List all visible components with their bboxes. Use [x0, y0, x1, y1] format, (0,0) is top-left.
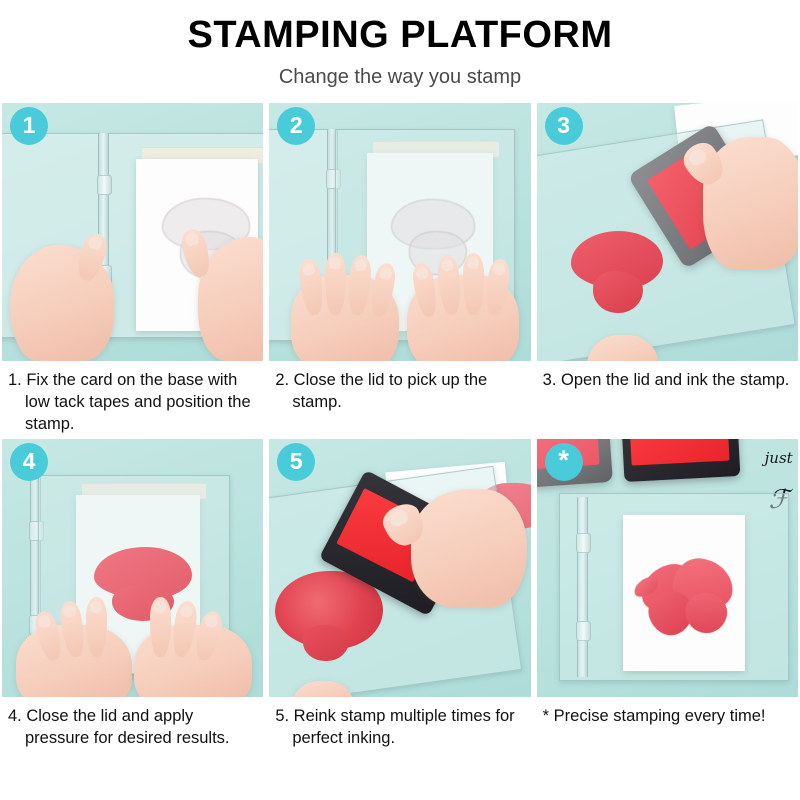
- hinge-knuckle: [97, 175, 112, 195]
- ink-pad-surface: [630, 439, 730, 466]
- step-badge-label: 5: [290, 450, 303, 473]
- fingernail: [184, 231, 200, 247]
- step-badge-label: 2: [290, 114, 303, 137]
- step-cell-2: 2 2. Close the lid to pick up the stamp.: [269, 103, 530, 439]
- header: STAMPING PLATFORM Change the way you sta…: [0, 0, 800, 89]
- steps-grid: 1 1. Fix the card on the base with low t…: [0, 103, 800, 775]
- fingernail: [355, 258, 368, 271]
- hinge-knuckle: [576, 621, 591, 641]
- step-badge-1: 1: [10, 107, 48, 145]
- fingernail: [379, 266, 393, 280]
- step-cell-3: 3 3. Open the lid and ink the stamp.: [537, 103, 798, 439]
- step-caption-1: 1. Fix the card on the base with low tac…: [2, 361, 263, 439]
- step-photo-1: 1: [2, 103, 263, 361]
- step-badge-6: *: [545, 443, 583, 481]
- step-badge-3: 3: [545, 107, 583, 145]
- script-stamp-just: just: [765, 449, 793, 467]
- fingernail: [154, 601, 166, 613]
- step-badge-label: 4: [23, 450, 36, 473]
- fingernail: [87, 235, 103, 251]
- fingernail: [204, 614, 219, 629]
- step-cell-6: just ℱ * * Precise stampin: [537, 439, 798, 775]
- step-photo-2: 2: [269, 103, 530, 361]
- step-photo-4: 4: [2, 439, 263, 697]
- step-photo-3: 3: [537, 103, 798, 361]
- fingernail: [180, 604, 194, 618]
- inked-flower-stamp-lower: [593, 271, 643, 313]
- fingernail: [467, 257, 479, 269]
- platform-hinge: [577, 497, 588, 677]
- finger: [150, 597, 171, 657]
- finger: [86, 597, 107, 657]
- fingernail: [37, 614, 52, 629]
- hinge-knuckle: [576, 533, 591, 553]
- step-photo-6: just ℱ *: [537, 439, 798, 697]
- step-caption-6: * Precise stamping every time!: [537, 697, 798, 775]
- fingernail: [388, 507, 411, 528]
- step-badge-4: 4: [10, 443, 48, 481]
- step-badge-label: 1: [23, 114, 36, 137]
- fingernail: [90, 601, 102, 613]
- right-hand: [411, 489, 527, 607]
- fingernail: [329, 257, 341, 269]
- fingernail: [63, 604, 77, 618]
- step-caption-3: 3. Open the lid and ink the stamp.: [537, 361, 798, 439]
- step-caption-4: 4. Close the lid and apply pressure for …: [2, 697, 263, 775]
- step-cell-1: 1 1. Fix the card on the base with low t…: [2, 103, 263, 439]
- page-subtitle: Change the way you stamp: [0, 66, 800, 89]
- ink-pad-black: [621, 439, 740, 482]
- page-title: STAMPING PLATFORM: [0, 16, 800, 56]
- step-photo-5: 5: [269, 439, 530, 697]
- step-badge-label: *: [558, 447, 569, 474]
- fingernail: [302, 262, 315, 275]
- step-cell-4: 4 4. Close the lid and apply pressure fo…: [2, 439, 263, 775]
- step-badge-2: 2: [277, 107, 315, 145]
- step-badge-label: 3: [557, 114, 570, 137]
- step-cell-5: 5 5. Reink stamp multiple times for perf…: [269, 439, 530, 775]
- fingernail: [415, 266, 429, 280]
- step-caption-2: 2. Close the lid to pick up the stamp.: [269, 361, 530, 439]
- fingernail: [441, 259, 454, 272]
- fingernail: [686, 146, 708, 168]
- step-badge-5: 5: [277, 443, 315, 481]
- fingernail: [493, 262, 506, 275]
- infographic-page: STAMPING PLATFORM Change the way you sta…: [0, 0, 800, 800]
- step-caption-5: 5. Reink stamp multiple times for perfec…: [269, 697, 530, 775]
